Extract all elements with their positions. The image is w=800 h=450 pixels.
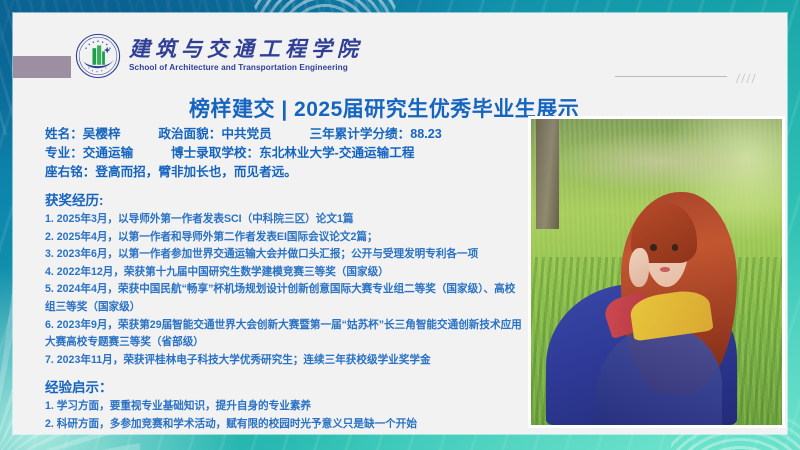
logo-english-name: School of Architecture and Transportatio…	[129, 64, 363, 72]
award-item: 1. 2025年3月，以导师外第一作者发表SCI（中科院三区）论文1篇	[45, 211, 525, 229]
award-item: 6. 2023年9月，荣获第29届智能交通世界大会创新大赛暨第一届“姑苏杯”长三…	[45, 317, 525, 352]
profile-line-motto: 座右铭：登高而招，臂非加长也，而见者远。	[45, 163, 525, 182]
logo-text-block: 建筑与交通工程学院 School of Architecture and Tra…	[129, 39, 363, 72]
award-item: 5. 2024年4月，荣获中国民航“畅享”杯机场规划设计创新创意国际大赛专业组二…	[45, 281, 525, 316]
header-divider-line	[615, 76, 727, 77]
experience-heading: 经验启示：	[45, 376, 525, 396]
profile-and-achievements: 姓名：吴樱梓 政治面貌：中共党员 三年累计学分绩：88.23 专业：交通运输 博…	[45, 125, 525, 434]
photo-tree-trunk	[536, 119, 559, 229]
portrait-frame	[528, 116, 785, 428]
content-card: 建筑与交通工程学院 School of Architecture and Tra…	[13, 13, 787, 434]
portrait-eye-right	[672, 244, 679, 250]
award-item: 3. 2023年6月，以第一作者参加世界交通运输大会并做口头汇报；公开与受理发明…	[45, 246, 525, 264]
university-seal-icon	[75, 33, 121, 79]
portrait-eye-left	[650, 244, 657, 250]
mauve-accent-bar	[13, 56, 71, 78]
profile-line-major: 专业：交通运输 博士录取学校：东北林业大学-交通运输工程	[45, 144, 525, 163]
award-item: 7. 2023年11月，荣获评桂林电子科技大学优秀研究生；连续三年获校级学业奖学…	[45, 352, 525, 370]
award-item: 4. 2022年12月，荣获第十九届中国研究生数学建模竞赛三等奖（国家级）	[45, 264, 525, 282]
profile-line-name: 姓名：吴樱梓 政治面貌：中共党员 三年累计学分绩：88.23	[45, 125, 525, 144]
page-title: 榜样建交 | 2025届研究生优秀毕业生展示	[189, 93, 579, 123]
experience-item: 2. 科研方面，多参加竞赛和学术活动，赋有限的校园时光予意义只是缺一个开始	[45, 416, 525, 434]
award-item: 2. 2025年4月，以第一作者和导师外第二作者发表EI国际会议论文2篇；	[45, 229, 525, 247]
graduate-portrait	[531, 119, 782, 425]
portrait-hand	[629, 248, 649, 288]
institution-logo: 建筑与交通工程学院 School of Architecture and Tra…	[75, 33, 363, 79]
slash-decoration-icon: ////	[736, 71, 757, 88]
logo-chinese-name: 建筑与交通工程学院	[129, 39, 363, 60]
awards-heading: 获奖经历:	[45, 189, 525, 209]
card-header: 建筑与交通工程学院 School of Architecture and Tra…	[13, 13, 787, 89]
experience-item: 1. 学习方面，要重视专业基础知识，提升自身的专业素养	[45, 398, 525, 416]
